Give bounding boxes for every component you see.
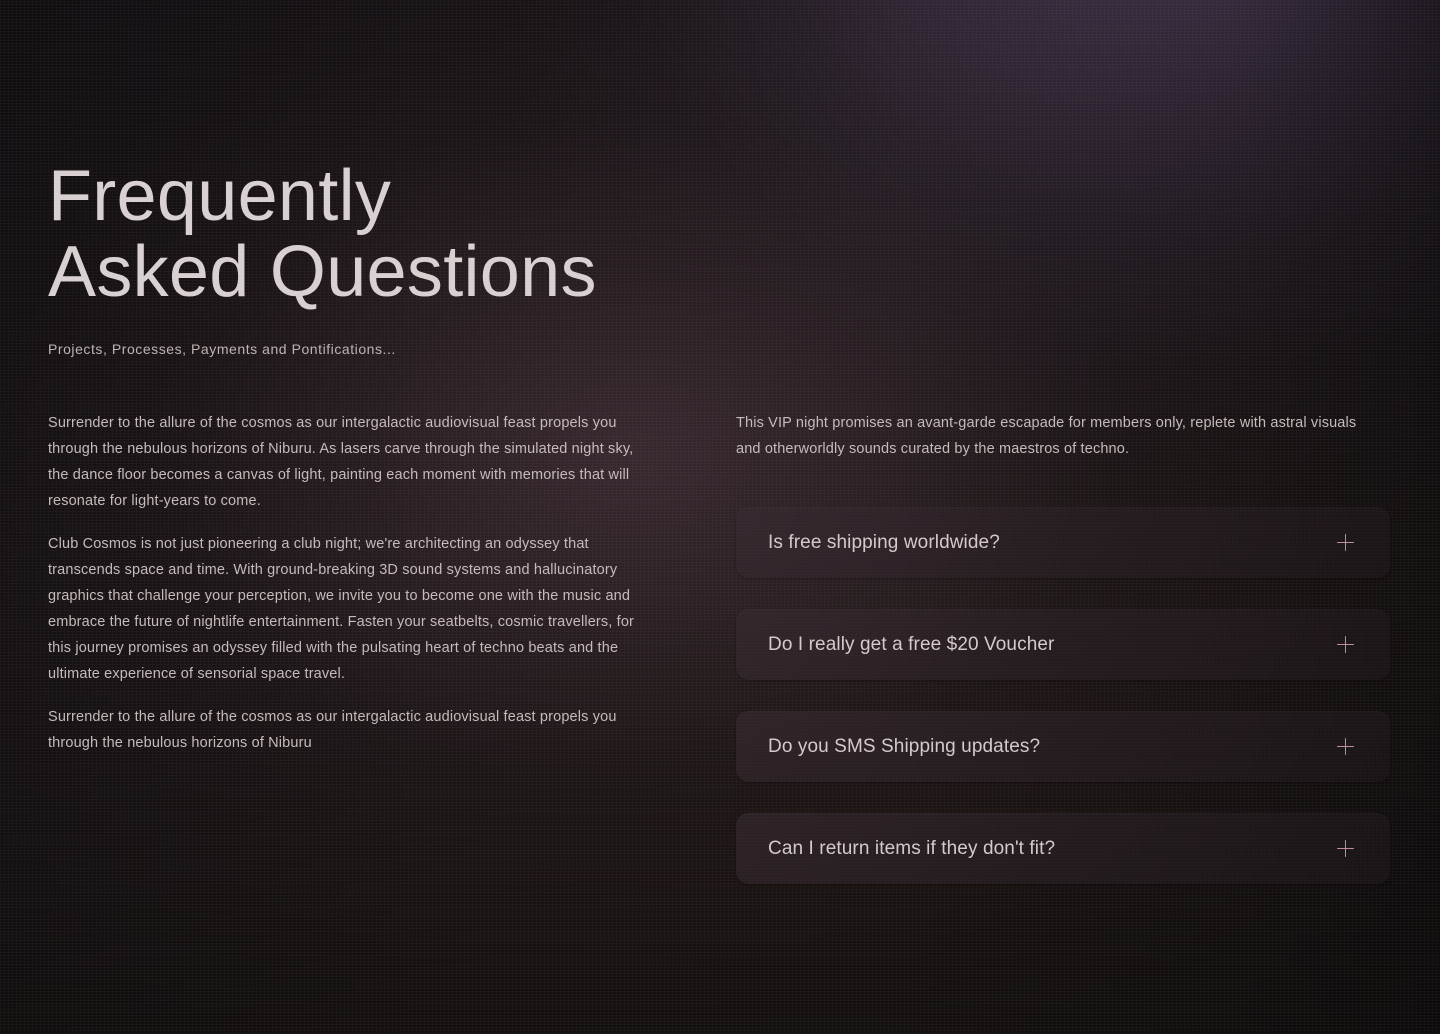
plus-icon[interactable] xyxy=(1337,738,1354,755)
faq-accordion: Is free shipping worldwide? Do I really … xyxy=(736,507,1390,884)
faq-page: Frequently Asked Questions Projects, Pro… xyxy=(0,0,1440,1034)
left-content-column: Surrender to the allure of the cosmos as… xyxy=(48,410,644,756)
faq-item-returns[interactable]: Can I return items if they don't fit? xyxy=(736,813,1390,884)
page-title: Frequently Asked Questions xyxy=(48,158,828,310)
faq-question-label: Do you SMS Shipping updates? xyxy=(768,735,1040,759)
faq-item-free-voucher[interactable]: Do I really get a free $20 Voucher xyxy=(736,609,1390,680)
page-title-line-1: Frequently xyxy=(48,158,828,234)
faq-question-label: Can I return items if they don't fit? xyxy=(768,837,1055,861)
plus-icon[interactable] xyxy=(1337,840,1354,857)
faq-item-sms-shipping-updates[interactable]: Do you SMS Shipping updates? xyxy=(736,711,1390,782)
faq-item-shipping-worldwide[interactable]: Is free shipping worldwide? xyxy=(736,507,1390,578)
faq-question-label: Is free shipping worldwide? xyxy=(768,531,1000,555)
page-title-line-2: Asked Questions xyxy=(48,234,828,310)
plus-icon[interactable] xyxy=(1337,636,1354,653)
faq-question-label: Do I really get a free $20 Voucher xyxy=(768,633,1054,657)
intro-paragraph-1: Surrender to the allure of the cosmos as… xyxy=(48,410,644,514)
page-subtitle: Projects, Processes, Payments and Pontif… xyxy=(48,341,396,357)
vip-intro-paragraph: This VIP night promises an avant-garde e… xyxy=(736,410,1366,462)
plus-icon[interactable] xyxy=(1337,534,1354,551)
intro-paragraph-2: Club Cosmos is not just pioneering a clu… xyxy=(48,531,644,687)
intro-paragraph-3: Surrender to the allure of the cosmos as… xyxy=(48,704,644,756)
right-intro-block: This VIP night promises an avant-garde e… xyxy=(736,410,1366,462)
